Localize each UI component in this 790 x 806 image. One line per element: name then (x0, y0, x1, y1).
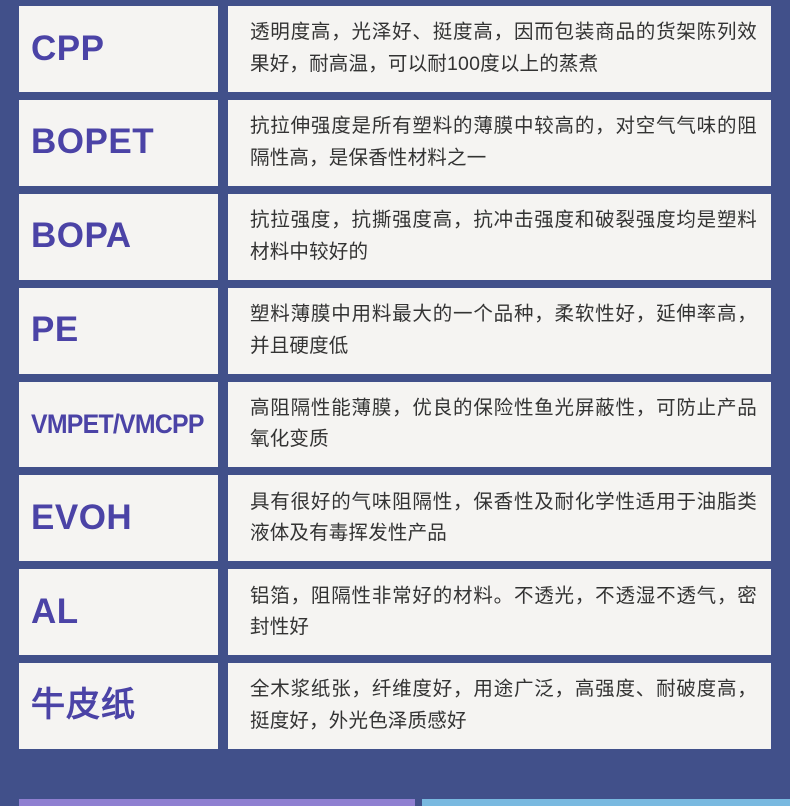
material-description-text: 透明度高，光泽好、挺度高，因而包装商品的货架陈列效果好，耐高温，可以耐100度以… (250, 17, 757, 80)
table-row: EVOH 具有很好的气味阻隔性，保香性及耐化学性适用于油脂类液体及有毒挥发性产品 (19, 475, 771, 569)
material-name-label: 牛皮纸 (31, 688, 136, 724)
material-name-label: CPP (31, 31, 104, 68)
table-row: CPP 透明度高，光泽好、挺度高，因而包装商品的货架陈列效果好，耐高温，可以耐1… (19, 0, 771, 100)
material-name-label: BOPET (31, 124, 154, 161)
page-root: CPP 透明度高，光泽好、挺度高，因而包装商品的货架陈列效果好，耐高温，可以耐1… (0, 0, 790, 806)
material-name-cell: VMPET/VMCPP (19, 382, 228, 468)
material-properties-table: CPP 透明度高，光泽好、挺度高，因而包装商品的货架陈列效果好，耐高温，可以耐1… (19, 0, 771, 757)
material-description-text: 塑料薄膜中用料最大的一个品种，柔软性好，延伸率高，并且硬度低 (250, 299, 757, 362)
bottom-partial-bars (0, 799, 790, 806)
material-description-cell: 高阻隔性能薄膜，优良的保险性鱼光屏蔽性，可防止产品氧化变质 (228, 382, 771, 468)
material-description-text: 铝箔，阻隔性非常好的材料。不透光，不透湿不透气，密封性好 (250, 581, 757, 644)
table-row: BOPET 抗拉伸强度是所有塑料的薄膜中较高的，对空气气味的阻隔性高，是保香性材… (19, 100, 771, 194)
material-description-text: 全木浆纸张，纤维度好，用途广泛，高强度、耐破度高，挺度好，外光色泽质感好 (250, 674, 757, 737)
bottom-bar-gap (415, 799, 422, 806)
material-name-cell: EVOH (19, 475, 228, 561)
bottom-bar-purple (19, 799, 415, 806)
material-description-cell: 塑料薄膜中用料最大的一个品种，柔软性好，延伸率高，并且硬度低 (228, 288, 771, 374)
table-row: VMPET/VMCPP 高阻隔性能薄膜，优良的保险性鱼光屏蔽性，可防止产品氧化变… (19, 382, 771, 476)
table-row: PE 塑料薄膜中用料最大的一个品种，柔软性好，延伸率高，并且硬度低 (19, 288, 771, 382)
material-name-cell: CPP (19, 6, 228, 92)
material-description-cell: 铝箔，阻隔性非常好的材料。不透光，不透湿不透气，密封性好 (228, 569, 771, 655)
material-description-cell: 具有很好的气味阻隔性，保香性及耐化学性适用于油脂类液体及有毒挥发性产品 (228, 475, 771, 561)
material-description-text: 抗拉强度，抗撕强度高，抗冲击强度和破裂强度均是塑料材料中较好的 (250, 205, 757, 268)
material-description-cell: 抗拉伸强度是所有塑料的薄膜中较高的，对空气气味的阻隔性高，是保香性材料之一 (228, 100, 771, 186)
material-name-label: EVOH (31, 500, 132, 537)
material-name-label: BOPA (31, 218, 132, 255)
material-description-text: 抗拉伸强度是所有塑料的薄膜中较高的，对空气气味的阻隔性高，是保香性材料之一 (250, 111, 757, 174)
material-description-cell: 抗拉强度，抗撕强度高，抗冲击强度和破裂强度均是塑料材料中较好的 (228, 194, 771, 280)
material-name-label: PE (31, 312, 79, 349)
material-name-cell: PE (19, 288, 228, 374)
material-name-label: AL (31, 594, 79, 631)
material-name-cell: AL (19, 569, 228, 655)
material-name-cell: BOPA (19, 194, 228, 280)
material-name-cell: 牛皮纸 (19, 663, 228, 749)
material-description-cell: 透明度高，光泽好、挺度高，因而包装商品的货架陈列效果好，耐高温，可以耐100度以… (228, 6, 771, 92)
material-name-label: VMPET/VMCPP (31, 410, 204, 438)
table-row: 牛皮纸 全木浆纸张，纤维度好，用途广泛，高强度、耐破度高，挺度好，外光色泽质感好 (19, 663, 771, 757)
material-description-cell: 全木浆纸张，纤维度好，用途广泛，高强度、耐破度高，挺度好，外光色泽质感好 (228, 663, 771, 749)
bottom-bar-blue (422, 799, 790, 806)
table-row: BOPA 抗拉强度，抗撕强度高，抗冲击强度和破裂强度均是塑料材料中较好的 (19, 194, 771, 288)
material-name-cell: BOPET (19, 100, 228, 186)
material-description-text: 具有很好的气味阻隔性，保香性及耐化学性适用于油脂类液体及有毒挥发性产品 (250, 487, 757, 550)
table-row: AL 铝箔，阻隔性非常好的材料。不透光，不透湿不透气，密封性好 (19, 569, 771, 663)
material-description-text: 高阻隔性能薄膜，优良的保险性鱼光屏蔽性，可防止产品氧化变质 (250, 393, 757, 456)
